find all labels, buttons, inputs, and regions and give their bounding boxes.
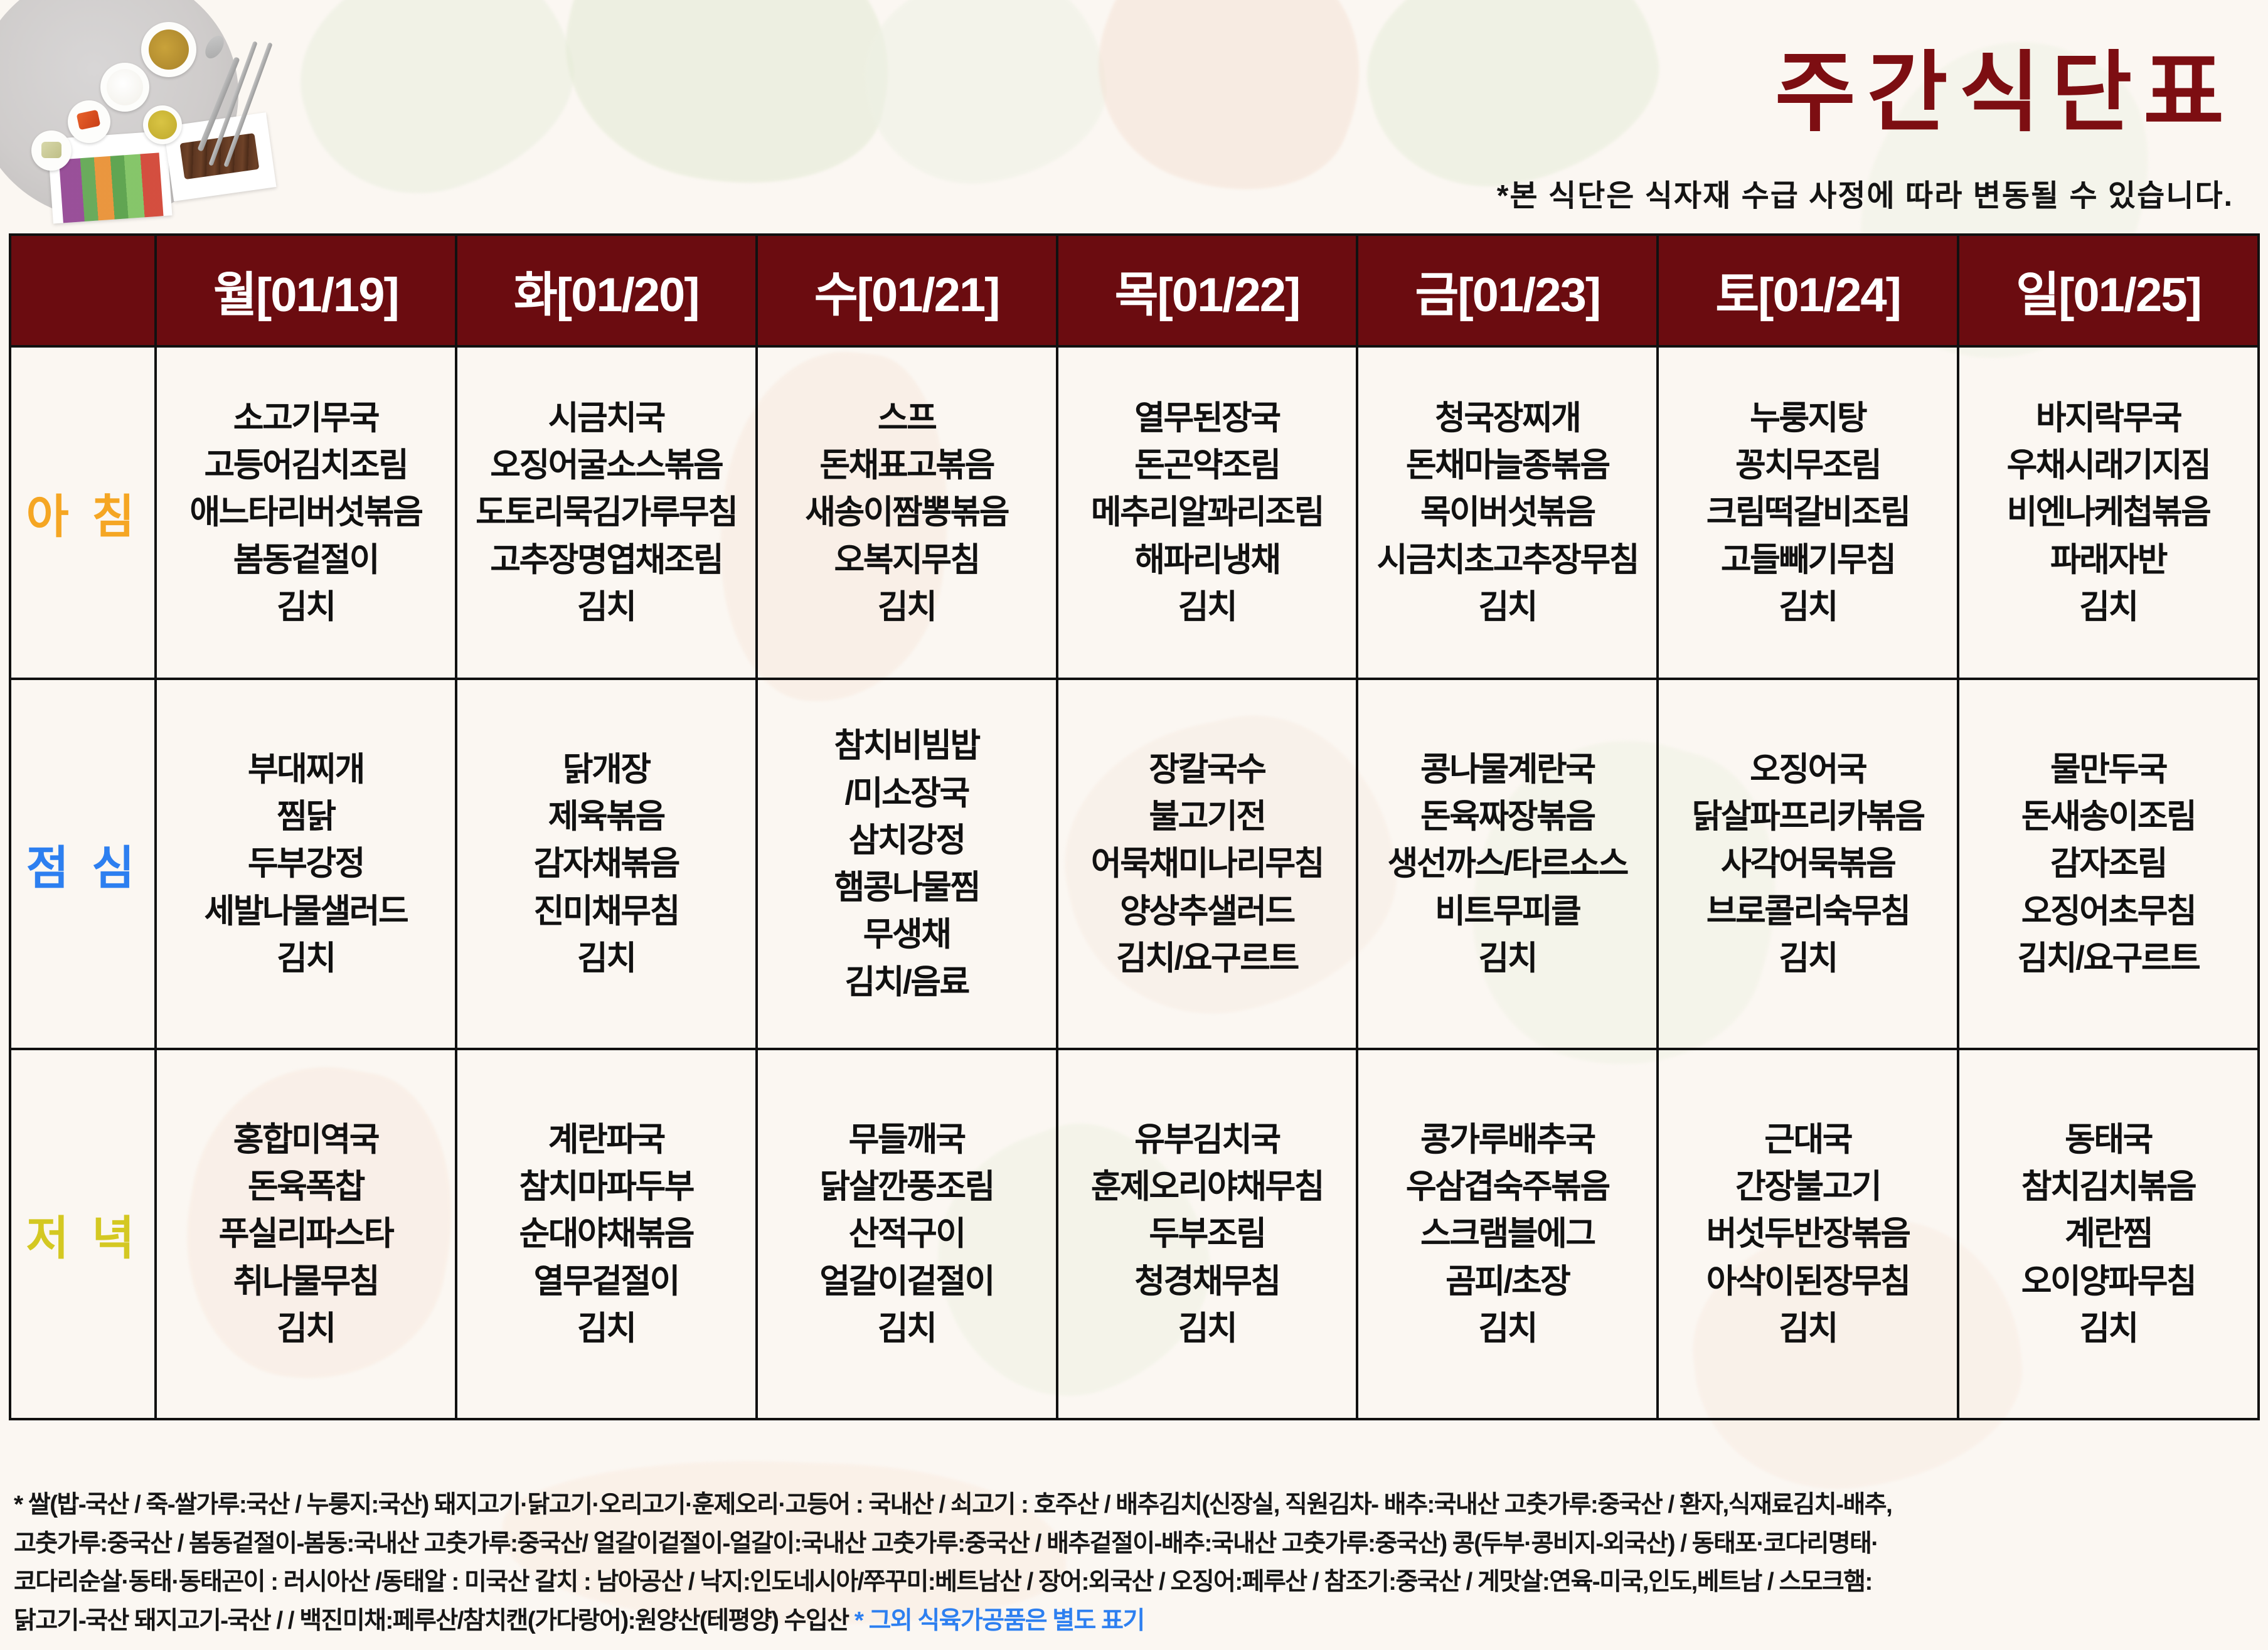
footnote-line-4-black: 닭고기-국산 돼지고기-국산 / / 백진미채:페루산/참치캔(가다랑어):원양… [14, 1607, 854, 1634]
menu-item: 김치 [159, 583, 452, 631]
menu-item: 바지락무국 [1962, 395, 2255, 442]
menu-item: 김치 [760, 583, 1053, 631]
menu-cell-lunch-sun: 물만두국돈새송이조림감자조림오징어초무침김치/요구르트 [1958, 679, 2259, 1049]
menu-item: 김치 [1061, 1305, 1354, 1352]
menu-item: 오복지무침 [760, 536, 1053, 583]
menu-item: 찜닭 [159, 793, 452, 840]
menu-item: 김치 [1661, 935, 1954, 982]
menu-item: 열무된장국 [1061, 395, 1354, 442]
menu-item: 진미채무침 [460, 888, 753, 935]
menu-item: 물만두국 [1962, 746, 2255, 793]
menu-item: 훈제오리야채무침 [1061, 1163, 1354, 1210]
menu-item: 김치 [1361, 935, 1654, 982]
menu-item: 김치 [1962, 1305, 2255, 1352]
day-header-tue: 화[01/20] [456, 235, 757, 346]
table-row-dinner: 저 녁 홍합미역국돈육폭찹푸실리파스타취나물무침김치 계란파국참치마파두부순대야… [10, 1049, 2259, 1419]
menu-item: 돈새송이조림 [1962, 793, 2255, 840]
page-title: 주간식단표 [1775, 49, 2235, 137]
menu-item: 돈채마늘종볶음 [1361, 442, 1654, 489]
menu-cell-breakfast-thu: 열무된장국돈곤약조림메추리알꽈리조림해파리냉채김치 [1057, 346, 1358, 679]
menu-item: 김치 [460, 583, 753, 631]
menu-item: 열무겉절이 [460, 1258, 753, 1305]
menu-item: 오징어굴소스볶음 [460, 442, 753, 489]
menu-item: 제육볶음 [460, 793, 753, 840]
menu-cell-lunch-sat: 오징어국닭살파프리카볶음사각어묵볶음브로콜리숙무침김치 [1658, 679, 1958, 1049]
meal-label-dinner: 저 녁 [10, 1049, 156, 1419]
menu-item: 우삼겹숙주볶음 [1361, 1163, 1654, 1210]
menu-item: 동태국 [1962, 1116, 2255, 1163]
menu-item: 어묵채미나리무침 [1061, 840, 1354, 887]
menu-item: 참치마파두부 [460, 1163, 753, 1210]
footnote-line-2: 고춧가루:중국산 / 봄동겉절이-봄동:국내산 고춧가루:중국산/ 얼갈이겉절이… [14, 1525, 2259, 1563]
menu-item: 김치 [1361, 1305, 1654, 1352]
menu-item: 김치 [1661, 583, 1954, 631]
menu-cell-dinner-sun: 동태국참치김치볶음계란찜오이양파무침김치 [1958, 1049, 2259, 1419]
menu-item: 두부강정 [159, 840, 452, 887]
footnote-line-4-blue: * 그외 식육가공품은 별도 표기 [854, 1607, 1144, 1634]
menu-item: 생선까스/타르소스 [1361, 840, 1654, 887]
menu-item: 계란찜 [1962, 1210, 2255, 1257]
menu-item: 돈육짜장볶음 [1361, 793, 1654, 840]
table-row-lunch: 점 심 부대찌개찜닭두부강정세발나물샐러드김치 닭개장제육볶음감자채볶음진미채무… [10, 679, 2259, 1049]
menu-cell-dinner-sat: 근대국간장불고기버섯두반장볶음아삭이된장무침김치 [1658, 1049, 1958, 1419]
page-subtitle: *본 식단은 식자재 수급 사정에 따라 변동될 수 있습니다. [1497, 171, 2233, 215]
menu-item: 얼갈이겉절이 [760, 1258, 1053, 1305]
menu-item: 두부조림 [1061, 1210, 1354, 1257]
menu-cell-breakfast-fri: 청국장찌개돈채마늘종볶음목이버섯볶음시금치초고추장무침김치 [1357, 346, 1658, 679]
menu-item: 참치김치볶음 [1962, 1163, 2255, 1210]
menu-item: 양상추샐러드 [1061, 888, 1354, 935]
menu-cell-dinner-wed: 무들깨국닭살깐풍조림산적구이얼갈이겉절이김치 [757, 1049, 1057, 1419]
menu-item: 김치 [460, 935, 753, 982]
menu-item: 김치 [159, 1305, 452, 1352]
menu-item: 닭개장 [460, 746, 753, 793]
menu-item: /미소장국 [760, 770, 1053, 817]
menu-item: 김치 [760, 1305, 1053, 1352]
menu-cell-lunch-tue: 닭개장제육볶음감자채볶음진미채무침김치 [456, 679, 757, 1049]
day-header-mon: 월[01/19] [156, 235, 456, 346]
menu-item: 콩가루배추국 [1361, 1116, 1654, 1163]
footnote-line-4: 닭고기-국산 돼지고기-국산 / / 백진미채:페루산/참치캔(가다랑어):원양… [14, 1602, 2259, 1641]
menu-item: 참치비빔밥 [760, 722, 1053, 769]
menu-item: 산적구이 [760, 1210, 1053, 1257]
weekly-menu-table: 월[01/19] 화[01/20] 수[01/21] 목[01/22] 금[01… [9, 233, 2260, 1420]
menu-item: 비트무피클 [1361, 888, 1654, 935]
menu-item: 고등어김치조림 [159, 442, 452, 489]
menu-item: 누룽지탕 [1661, 395, 1954, 442]
day-header-thu: 목[01/22] [1057, 235, 1358, 346]
menu-item: 계란파국 [460, 1116, 753, 1163]
menu-cell-lunch-fri: 콩나물계란국돈육짜장볶음생선까스/타르소스비트무피클김치 [1357, 679, 1658, 1049]
menu-item: 부대찌개 [159, 746, 452, 793]
menu-item: 감자채볶음 [460, 840, 753, 887]
menu-item: 푸실리파스타 [159, 1210, 452, 1257]
menu-item: 고들빼기무침 [1661, 536, 1954, 583]
menu-item: 새송이짬뽕볶음 [760, 489, 1053, 536]
menu-item: 근대국 [1661, 1116, 1954, 1163]
menu-item: 김치 [1661, 1305, 1954, 1352]
menu-item: 삼치강정 [760, 817, 1053, 864]
menu-item: 버섯두반장볶음 [1661, 1210, 1954, 1257]
menu-item: 사각어묵볶음 [1661, 840, 1954, 887]
menu-item: 김치 [1061, 583, 1354, 631]
menu-item: 청국장찌개 [1361, 395, 1654, 442]
menu-item: 김치 [1962, 583, 2255, 631]
table-header-row: 월[01/19] 화[01/20] 수[01/21] 목[01/22] 금[01… [10, 235, 2259, 346]
meal-label-breakfast: 아 침 [10, 346, 156, 679]
menu-item: 홍합미역국 [159, 1116, 452, 1163]
menu-item: 무생채 [760, 911, 1053, 958]
menu-item: 김치 [1361, 583, 1654, 631]
menu-item: 김치/요구르트 [1061, 935, 1354, 982]
menu-cell-breakfast-wed: 스프돈채표고볶음새송이짬뽕볶음오복지무침김치 [757, 346, 1057, 679]
day-header-wed: 수[01/21] [757, 235, 1057, 346]
menu-item: 장칼국수 [1061, 746, 1354, 793]
menu-item: 유부김치국 [1061, 1116, 1354, 1163]
menu-item: 순대야채볶음 [460, 1210, 753, 1257]
menu-item: 시금치국 [460, 395, 753, 442]
menu-item: 감자조림 [1962, 840, 2255, 887]
menu-item: 고추장명엽채조림 [460, 536, 753, 583]
menu-cell-breakfast-sun: 바지락무국우채시래기지짐비엔나케첩볶음파래자반김치 [1958, 346, 2259, 679]
menu-item: 비엔나케첩볶음 [1962, 489, 2255, 536]
day-header-sun: 일[01/25] [1958, 235, 2259, 346]
menu-item: 오이양파무침 [1962, 1258, 2255, 1305]
menu-item: 닭살파프리카볶음 [1661, 793, 1954, 840]
menu-cell-breakfast-tue: 시금치국오징어굴소스볶음도토리묵김가루무침고추장명엽채조림김치 [456, 346, 757, 679]
meal-label-lunch: 점 심 [10, 679, 156, 1049]
menu-cell-lunch-mon: 부대찌개찜닭두부강정세발나물샐러드김치 [156, 679, 456, 1049]
menu-item: 크림떡갈비조림 [1661, 489, 1954, 536]
menu-cell-breakfast-mon: 소고기무국고등어김치조림애느타리버섯볶음봄동겉절이김치 [156, 346, 456, 679]
menu-item: 목이버섯볶음 [1361, 489, 1654, 536]
table-row-breakfast: 아 침 소고기무국고등어김치조림애느타리버섯볶음봄동겉절이김치 시금치국오징어굴… [10, 346, 2259, 679]
menu-cell-lunch-thu: 장칼국수불고기전어묵채미나리무침양상추샐러드김치/요구르트 [1057, 679, 1358, 1049]
menu-item: 아삭이된장무침 [1661, 1258, 1954, 1305]
menu-item: 닭살깐풍조림 [760, 1163, 1053, 1210]
menu-item: 돈채표고볶음 [760, 442, 1053, 489]
menu-item: 곰피/초장 [1361, 1258, 1654, 1305]
menu-cell-dinner-fri: 콩가루배추국우삼겹숙주볶음스크램블에그곰피/초장김치 [1357, 1049, 1658, 1419]
page-header: 주간식단표 *본 식단은 식자재 수급 사정에 따라 변동될 수 있습니다. [0, 0, 2268, 232]
menu-item: 스프 [760, 395, 1053, 442]
day-header-sat: 토[01/24] [1658, 235, 1958, 346]
menu-cell-dinner-thu: 유부김치국훈제오리야채무침두부조림청경채무침김치 [1057, 1049, 1358, 1419]
menu-item: 김치/요구르트 [1962, 935, 2255, 982]
menu-item: 돈육폭찹 [159, 1163, 452, 1210]
menu-item: 간장불고기 [1661, 1163, 1954, 1210]
menu-item: 김치 [159, 935, 452, 982]
header-corner-cell [10, 235, 156, 346]
menu-item: 소고기무국 [159, 395, 452, 442]
ingredient-origin-footnote: * 쌀(밥-국산 / 죽-쌀가루:국산 / 누룽지:국산) 돼지고기·닭고기·오… [14, 1486, 2259, 1640]
menu-cell-breakfast-sat: 누룽지탕꽁치무조림크림떡갈비조림고들빼기무침김치 [1658, 346, 1958, 679]
menu-item: 해파리냉채 [1061, 536, 1354, 583]
menu-item: 햄콩나물찜 [760, 864, 1053, 911]
menu-item: 파래자반 [1962, 536, 2255, 583]
menu-cell-dinner-tue: 계란파국참치마파두부순대야채볶음열무겉절이김치 [456, 1049, 757, 1419]
menu-item: 불고기전 [1061, 793, 1354, 840]
footnote-line-3: 코다리순살·동태·동태곤이 : 러시아산 /동태알 : 미국산 갈치 : 남아공… [14, 1563, 2259, 1602]
menu-item: 메추리알꽈리조림 [1061, 489, 1354, 536]
menu-item: 우채시래기지짐 [1962, 442, 2255, 489]
menu-item: 돈곤약조림 [1061, 442, 1354, 489]
menu-item: 콩나물계란국 [1361, 746, 1654, 793]
menu-item: 청경채무침 [1061, 1258, 1354, 1305]
menu-item: 시금치초고추장무침 [1361, 536, 1654, 583]
menu-item: 봄동겉절이 [159, 536, 452, 583]
menu-item: 김치/음료 [760, 959, 1053, 1006]
menu-cell-lunch-wed: 참치비빔밥/미소장국삼치강정햄콩나물찜무생채김치/음료 [757, 679, 1057, 1049]
menu-item: 도토리묵김가루무침 [460, 489, 753, 536]
day-header-fri: 금[01/23] [1357, 235, 1658, 346]
menu-item: 오징어국 [1661, 746, 1954, 793]
menu-item: 꽁치무조림 [1661, 442, 1954, 489]
menu-item: 브로콜리숙무침 [1661, 888, 1954, 935]
menu-item: 오징어초무침 [1962, 888, 2255, 935]
menu-item: 세발나물샐러드 [159, 888, 452, 935]
menu-cell-dinner-mon: 홍합미역국돈육폭찹푸실리파스타취나물무침김치 [156, 1049, 456, 1419]
menu-item: 취나물무침 [159, 1258, 452, 1305]
menu-item: 애느타리버섯볶음 [159, 489, 452, 536]
menu-item: 무들깨국 [760, 1116, 1053, 1163]
menu-item: 스크램블에그 [1361, 1210, 1654, 1257]
footnote-line-1: * 쌀(밥-국산 / 죽-쌀가루:국산 / 누룽지:국산) 돼지고기·닭고기·오… [14, 1486, 2259, 1525]
menu-item: 김치 [460, 1305, 753, 1352]
